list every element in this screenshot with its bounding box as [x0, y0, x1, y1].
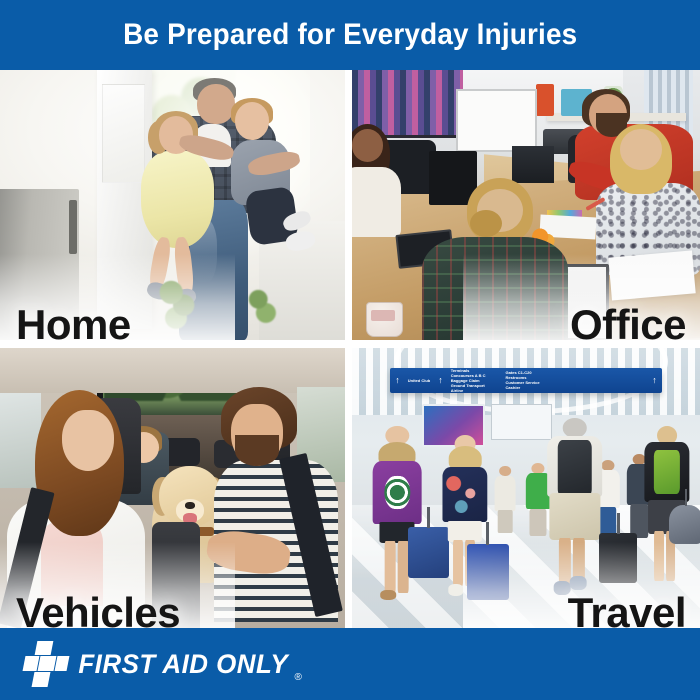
category-cell-travel[interactable]: ↑ United Club ↑ Terminals Concourses A B…	[352, 348, 700, 628]
sign-arrow-up-icon-2: ↑	[433, 376, 448, 385]
travel-photo: ↑ United Club ↑ Terminals Concourses A B…	[352, 348, 700, 628]
category-label-home: Home	[16, 304, 131, 340]
office-photo	[352, 70, 700, 340]
traveler-backpack	[547, 418, 603, 597]
category-label-office: Office	[570, 304, 686, 340]
crowd-person	[495, 466, 516, 533]
brand-name: FIRST AID ONLY	[78, 649, 288, 680]
vehicles-photo	[0, 348, 345, 628]
footer-bar: FIRST AID ONLY ®	[0, 628, 700, 700]
category-label-vehicles: Vehicles	[16, 592, 180, 628]
airport-directional-sign: ↑ United Club ↑ Terminals Concourses A B…	[390, 368, 661, 393]
sign-column-1: Terminals Concourses A B C Baggage Claim…	[448, 368, 489, 393]
category-grid: Home	[0, 70, 700, 628]
sign-arrow-up-icon: ↑	[390, 376, 405, 385]
category-cell-vehicles[interactable]: Vehicles	[0, 348, 345, 628]
category-label-travel: Travel	[568, 592, 686, 628]
sign-line: Airline	[448, 388, 489, 393]
category-cell-office[interactable]: Office	[352, 70, 700, 340]
registered-trademark-symbol: ®	[295, 672, 302, 683]
sign-arrow-up-icon-3: ↑	[647, 376, 662, 385]
sign-column-2: Gates C1-C20 Restrooms Customer Service …	[503, 370, 543, 390]
sign-line: Cashier	[503, 385, 543, 390]
page-title: Be Prepared for Everyday Injuries	[123, 18, 577, 52]
rolling-suitcase	[599, 533, 637, 583]
poster-root: Be Prepared for Everyday Injuries	[0, 0, 700, 700]
brand-logo[interactable]: FIRST AID ONLY ®	[24, 641, 302, 687]
rolling-suitcase	[467, 544, 509, 600]
first-aid-cross-logo-icon	[24, 641, 68, 687]
sign-united-club-text: United Club	[405, 378, 433, 383]
handbag	[669, 505, 700, 544]
header-bar: Be Prepared for Everyday Injuries	[0, 0, 700, 70]
home-photo	[0, 70, 345, 340]
category-cell-home[interactable]: Home	[0, 70, 345, 340]
